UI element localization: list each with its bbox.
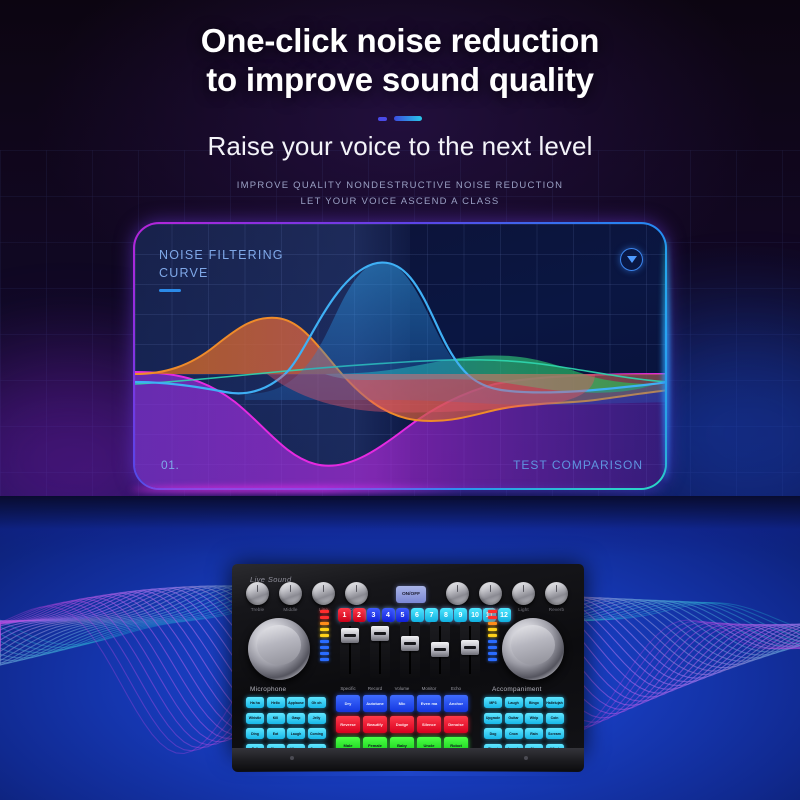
led-segment — [320, 628, 329, 631]
effect-pad-anchor[interactable]: Anchor — [444, 695, 468, 712]
divider-bar — [394, 116, 422, 121]
device-base — [232, 748, 584, 772]
fader-mic[interactable] — [370, 622, 390, 678]
onoff-button[interactable]: ON/OFF — [396, 586, 426, 603]
accompaniment-pad-bingo[interactable]: Bingo — [525, 697, 543, 708]
microphone-pad-coming[interactable]: Coming — [308, 728, 326, 739]
fader-bass[interactable] — [340, 622, 360, 678]
jog-wheel-left[interactable] — [248, 618, 310, 680]
microphone-pad-gasp[interactable]: Gasp — [287, 713, 305, 724]
panel-right-glow — [663, 238, 669, 480]
subtitle: Raise your voice to the next level — [0, 131, 800, 162]
effect-pad-dry[interactable]: Dry — [336, 695, 360, 712]
chart-title-line-2: CURVE — [159, 264, 284, 282]
effect-pad-beautify[interactable]: Beautify — [363, 716, 387, 733]
noise-filtering-panel: NOISE FILTERING CURVE 01. TEST COMPARISO… — [133, 222, 667, 490]
num-pad-4[interactable]: 4 — [382, 608, 395, 622]
led-segment — [320, 652, 329, 655]
microphone-pad-jelly[interactable]: Jelly — [308, 713, 326, 724]
accompaniment-pad-scream[interactable]: Scream — [546, 728, 564, 739]
num-pad-9[interactable]: 9 — [454, 608, 467, 622]
panel-inner: NOISE FILTERING CURVE 01. TEST COMPARISO… — [135, 224, 665, 488]
led-segment — [488, 658, 497, 661]
accompaniment-pad-rain[interactable]: Rain — [525, 728, 543, 739]
chart-comparison-label: TEST COMPARISON — [513, 458, 643, 472]
num-pad-5[interactable]: 5 — [396, 608, 409, 622]
num-pad-8[interactable]: 8 — [440, 608, 453, 622]
divider-dot — [378, 117, 387, 121]
num-pad-6[interactable]: 6 — [411, 608, 424, 622]
led-segment — [488, 622, 497, 625]
knob-middle[interactable] — [279, 582, 302, 605]
effect-column-echo: Echo — [443, 686, 469, 691]
knob-label-middle: Middle — [276, 607, 306, 612]
led-segment — [320, 658, 329, 661]
jog-wheel-right[interactable] — [502, 618, 564, 680]
num-pad-1[interactable]: 1 — [338, 608, 351, 622]
screw-right — [524, 756, 528, 760]
effect-pad-dodge[interactable]: Dodge — [390, 716, 414, 733]
led-segment — [488, 628, 497, 631]
device-body: Live Sound TrebleMiddleLineOthersMusicMo… — [232, 564, 584, 756]
accompaniment-pad-coin[interactable]: Coin — [546, 713, 564, 724]
effect-column-record: Record — [362, 686, 388, 691]
fader-cap[interactable] — [401, 636, 419, 651]
knob-label-light: Light — [509, 607, 539, 612]
accompaniment-pad-upgrade[interactable]: Upgrade — [484, 713, 502, 724]
led-segment — [488, 610, 497, 613]
fader-echo[interactable] — [460, 622, 480, 678]
knob-reverb[interactable] — [545, 582, 568, 605]
section-label-accompaniment: Accompaniment — [492, 686, 542, 693]
knob-label-reverb: Reverb — [542, 607, 572, 612]
effect-pad-denoise[interactable]: Denoise — [444, 716, 468, 733]
led-meter-right — [488, 610, 497, 661]
led-segment — [320, 634, 329, 637]
caption-line-1: IMPROVE QUALITY NONDESTRUCTIVE NOISE RED… — [0, 180, 800, 191]
sound-card-device: Live Sound TrebleMiddleLineOthersMusicMo… — [222, 556, 594, 778]
accompaniment-pad-dog[interactable]: Dog — [484, 728, 502, 739]
accompaniment-pad-laugh[interactable]: Laugh — [505, 697, 523, 708]
chart-title-underline — [159, 289, 181, 292]
led-segment — [488, 640, 497, 643]
knob-light[interactable] — [512, 582, 535, 605]
led-segment — [320, 646, 329, 649]
microphone-pad-applause[interactable]: Applause — [287, 697, 305, 708]
microphone-pad-laugh[interactable]: Laugh — [287, 728, 305, 739]
led-segment — [320, 640, 329, 643]
page-title: One-click noise reduction to improve sou… — [0, 22, 800, 99]
microphone-pad-eat[interactable]: Eat — [267, 728, 285, 739]
fader-music[interactable] — [400, 622, 420, 678]
fader-cap[interactable] — [461, 640, 479, 655]
promo-image: One-click noise reduction to improve sou… — [0, 0, 800, 800]
led-segment — [320, 616, 329, 619]
accompaniment-pad-crow[interactable]: Crow — [505, 728, 523, 739]
microphone-pad-whistle[interactable]: Whistle — [246, 713, 264, 724]
effect-column-volume: Volume — [389, 686, 415, 691]
knob-treble[interactable] — [246, 582, 269, 605]
led-meter-left — [320, 610, 329, 661]
fader-cap[interactable] — [341, 628, 359, 643]
headline-line-1: One-click noise reduction — [0, 22, 800, 61]
chart-title: NOISE FILTERING CURVE — [159, 246, 284, 292]
section-label-microphone: Microphone — [250, 686, 286, 693]
led-segment — [488, 634, 497, 637]
num-pad-3[interactable]: 3 — [367, 608, 380, 622]
fader-cap[interactable] — [431, 642, 449, 657]
effect-pad-reverse[interactable]: Reverse — [336, 716, 360, 733]
knob-line[interactable] — [312, 582, 335, 605]
chart-index-label: 01. — [161, 458, 179, 472]
knob-music[interactable] — [446, 582, 469, 605]
fader-cap[interactable] — [371, 626, 389, 641]
accompaniment-pad-guitar[interactable]: Guitar — [505, 713, 523, 724]
effect-pad-even-ma[interactable]: Even ma — [417, 695, 441, 712]
microphone-pad-oh-oh[interactable]: Oh oh — [308, 697, 326, 708]
led-segment — [320, 622, 329, 625]
chart-title-line-1: NOISE FILTERING — [159, 246, 284, 264]
headline-line-2: to improve sound quality — [0, 61, 800, 100]
led-segment — [488, 652, 497, 655]
chevron-down-icon[interactable] — [620, 248, 643, 271]
effect-pad-silence[interactable]: Silence — [417, 716, 441, 733]
accompaniment-pad-whip[interactable]: Whip — [525, 713, 543, 724]
fader-volume[interactable] — [430, 622, 450, 678]
knob-label-treble: Treble — [243, 607, 273, 612]
panel-bottom-glow — [131, 486, 669, 493]
knob-others[interactable] — [345, 582, 368, 605]
microphone-pad-kill[interactable]: Kill — [267, 713, 285, 724]
led-segment — [488, 616, 497, 619]
screw-left — [290, 756, 294, 760]
caption-line-2: LET YOUR VOICE ASCEND A CLASS — [0, 196, 800, 207]
num-pad-10[interactable]: 10 — [469, 608, 482, 622]
effect-column-specific: Specific — [335, 686, 361, 691]
num-pad-12[interactable]: 12 — [498, 608, 511, 622]
effect-pad-mic[interactable]: Mic — [390, 695, 414, 712]
knob-monitor[interactable] — [479, 582, 502, 605]
title-divider — [0, 116, 800, 121]
effect-pad-autotune[interactable]: Autotune — [363, 695, 387, 712]
microphone-pad-ding[interactable]: Ding — [246, 728, 264, 739]
num-pad-2[interactable]: 2 — [353, 608, 366, 622]
microphone-pad-hello[interactable]: Hello — [267, 697, 285, 708]
led-segment — [488, 646, 497, 649]
led-segment — [320, 610, 329, 613]
accompaniment-pad-hallelujah[interactable]: Hallelujah — [546, 697, 564, 708]
effect-column-monitor: Monitor — [416, 686, 442, 691]
num-pad-7[interactable]: 7 — [425, 608, 438, 622]
accompaniment-pad-mp3[interactable]: MP3 — [484, 697, 502, 708]
microphone-pad-ha-ha[interactable]: Ha ha — [246, 697, 264, 708]
